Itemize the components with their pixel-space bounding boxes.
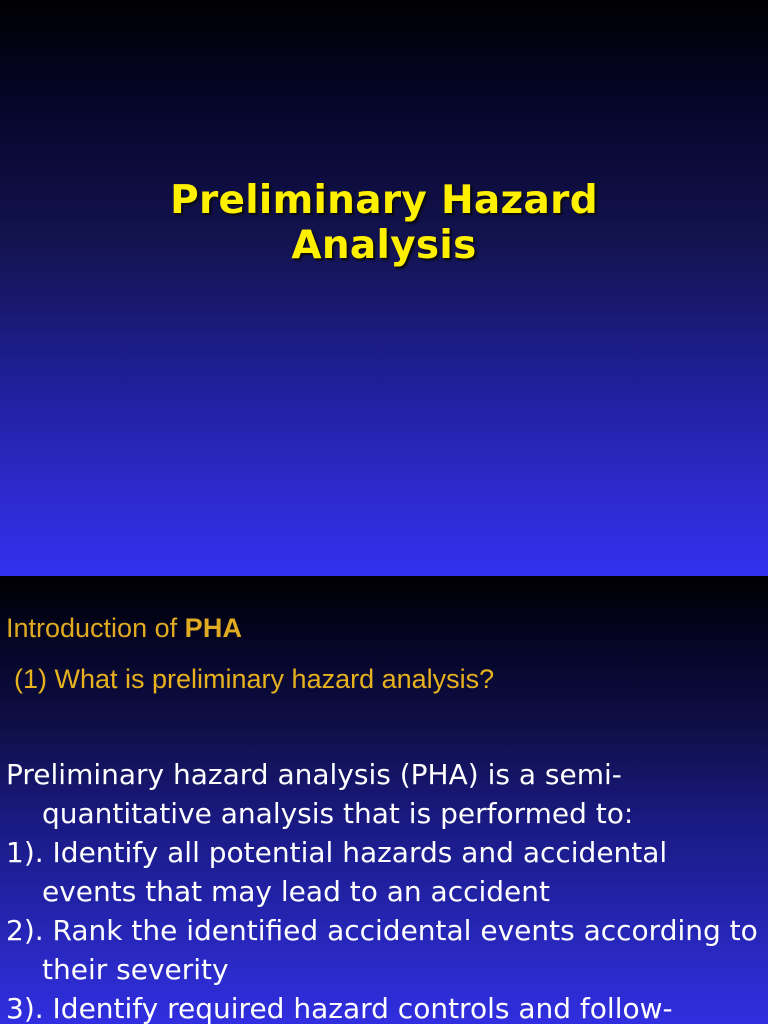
body-bullet-2: 2). Rank the identified accidental event… <box>0 911 768 989</box>
body-bullet-list: Preliminary hazard analysis (PHA) is a s… <box>0 755 768 1024</box>
title-block: Preliminary Hazard Analysis <box>0 178 768 268</box>
section-subheading-question: (1) What is preliminary hazard analysis? <box>14 663 494 695</box>
body-paragraph-definition: Preliminary hazard analysis (PHA) is a s… <box>0 755 768 833</box>
slide-title-line-2: Analysis <box>0 223 768 268</box>
body-bullet-3: 3). Identify required hazard controls an… <box>0 989 768 1024</box>
body-bullet-1: 1). Identify all potential hazards and a… <box>0 833 768 911</box>
slide-title-line-1: Preliminary Hazard <box>0 178 768 223</box>
section-heading: Introduction of PHA <box>6 612 242 644</box>
title-slide: Preliminary Hazard Analysis <box>0 0 768 576</box>
section-heading-acronym: PHA <box>185 613 243 643</box>
section-heading-prefix: Introduction of <box>6 613 185 643</box>
slide-deck-page: Preliminary Hazard Analysis Introduction… <box>0 0 768 1024</box>
